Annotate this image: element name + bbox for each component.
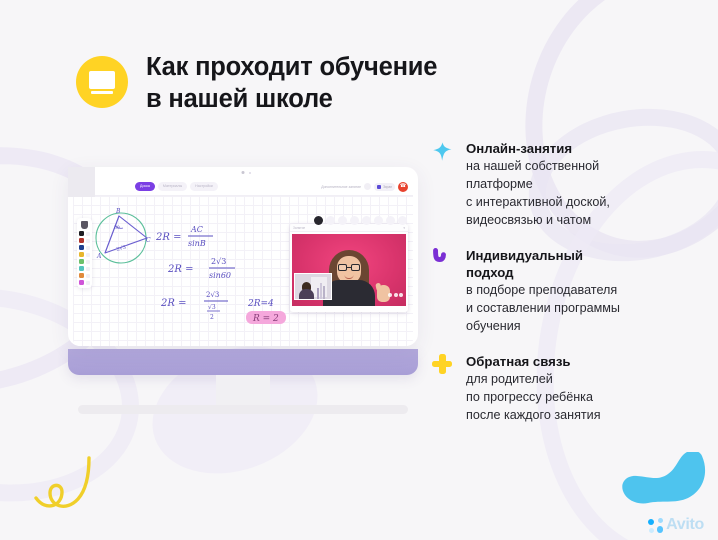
svg-text:√3: √3 [208, 304, 216, 311]
svg-text:2R=4: 2R=4 [247, 299, 274, 309]
video-controls-icon[interactable] [388, 293, 403, 297]
avito-logo-icon [648, 518, 663, 533]
feature-title: Обратная связь [466, 353, 710, 370]
svg-text:C: C [146, 237, 151, 244]
chevron-down-icon[interactable]: ▾ [403, 226, 405, 230]
tab-settings[interactable]: Настройки [190, 182, 218, 191]
trash-icon[interactable] [338, 216, 347, 225]
svg-text:AC: AC [190, 225, 203, 234]
feature-body: на нашей собственной платформе с интерак… [466, 158, 710, 230]
blue-blob [614, 452, 710, 512]
shape-icon[interactable] [362, 216, 371, 225]
whiteboard-canvas[interactable]: B A C 60 2√3 2R = AC sinB 2R = 2√3 [73, 196, 413, 346]
svg-text:sin60: sin60 [209, 271, 231, 280]
color-swatch[interactable] [79, 259, 84, 264]
svg-text:2R =: 2R = [160, 298, 186, 309]
svg-text:2√3: 2√3 [206, 291, 219, 299]
yellow-squiggle [34, 452, 114, 518]
svg-text:2√3: 2√3 [116, 245, 127, 253]
video-panel-label: Занятие [293, 226, 305, 230]
thumbs-up-thumb [375, 283, 382, 292]
share-screen-button[interactable]: Экран [374, 183, 395, 191]
monitor-screen: T Доска Материалы Настройки Дополнительн… [73, 178, 413, 346]
feature-body: в подборе преподавателя и составлении пр… [466, 282, 710, 336]
color-swatch[interactable] [79, 280, 84, 285]
color-swatch-row[interactable] [79, 259, 90, 264]
swatch-slot[interactable] [86, 239, 90, 243]
color-swatch[interactable] [79, 231, 84, 236]
swatch-slot[interactable] [86, 260, 90, 264]
feature-list: Онлайн-занятия на нашей собственной плат… [432, 140, 710, 441]
feature-title: Онлайн-занятия [466, 140, 710, 157]
tab-board[interactable]: Доска [135, 182, 155, 191]
feature-text: Обратная связь для родителей по прогресс… [466, 353, 710, 425]
swatch-slot[interactable] [86, 246, 90, 250]
teacher-video-tile [292, 234, 406, 306]
monitor-chin [68, 349, 418, 375]
eraser-icon[interactable] [326, 216, 335, 225]
svg-text:sinB: sinB [188, 239, 206, 248]
svg-text:R = 2: R = 2 [252, 314, 279, 324]
whiteboard-topbar-right: Дополнительное занятие Экран ☎ [321, 182, 408, 192]
color-swatch[interactable] [79, 252, 84, 257]
phone-hangup-icon[interactable]: ☎ [398, 182, 408, 192]
svg-text:2: 2 [210, 314, 214, 321]
feature-item-individual-approach: Индивидуальный подход в подборе преподав… [432, 247, 710, 336]
color-swatch[interactable] [79, 245, 84, 250]
feature-body: для родителей по прогрессу ребёнка после… [466, 371, 710, 425]
camera-icon [242, 171, 245, 174]
color-swatch[interactable] [79, 238, 84, 243]
color-swatch-row[interactable] [79, 231, 90, 236]
monitor-icon [89, 71, 115, 94]
whiteboard-topbar: T Доска Материалы Настройки Дополнительн… [73, 178, 413, 196]
whiteboard-toolbar[interactable] [314, 216, 407, 225]
share-label: Экран [383, 185, 392, 189]
feature-icon-wrap [432, 140, 456, 230]
pen-icon[interactable] [314, 216, 323, 225]
camera-led-icon [249, 172, 251, 174]
color-swatch-row[interactable] [79, 245, 90, 250]
monitor-base [78, 405, 408, 414]
header-badge [76, 56, 128, 108]
color-swatch-row[interactable] [79, 238, 90, 243]
swatch-slot[interactable] [86, 274, 90, 278]
crescent-icon [432, 248, 451, 268]
swatch-slot[interactable] [86, 281, 90, 285]
whiteboard-tabs: Доска Материалы Настройки [135, 182, 218, 191]
page-header: Как проходит обучение в нашей школе [76, 52, 437, 115]
glasses-icon [338, 264, 360, 271]
avito-wordmark: Avito [666, 516, 704, 534]
video-panel-header: Занятие ▾ [290, 224, 408, 232]
tab-materials[interactable]: Материалы [158, 182, 187, 191]
pen-icon[interactable] [81, 221, 88, 229]
svg-text:60: 60 [114, 225, 120, 231]
undo-icon[interactable] [386, 216, 395, 225]
feature-icon-wrap [432, 247, 456, 336]
svg-text:B: B [115, 208, 121, 215]
color-swatch-row[interactable] [79, 280, 90, 285]
color-swatch-row[interactable] [79, 252, 90, 257]
swatch-slot[interactable] [86, 253, 90, 257]
feature-item-feedback: Обратная связь для родителей по прогресс… [432, 353, 710, 425]
feature-item-online-lessons: Онлайн-занятия на нашей собственной плат… [432, 140, 710, 230]
svg-text:2√3: 2√3 [211, 257, 226, 266]
svg-text:2R =: 2R = [167, 264, 193, 275]
swatch-slot[interactable] [86, 232, 90, 236]
color-swatch[interactable] [79, 266, 84, 271]
feature-text: Индивидуальный подход в подборе преподав… [466, 247, 710, 336]
svg-text:A: A [96, 253, 102, 260]
video-call-panel[interactable]: Занятие ▾ [290, 224, 408, 312]
share-icon [377, 185, 381, 189]
move-icon[interactable] [374, 216, 383, 225]
whiteboard-tool-palette[interactable] [77, 218, 92, 288]
redo-icon[interactable] [398, 216, 407, 225]
slide-root: Как проходит обучение в нашей школе T До… [0, 0, 718, 540]
star-icon [432, 141, 453, 162]
page-title: Как проходит обучение в нашей школе [146, 52, 437, 115]
feature-text: Онлайн-занятия на нашей собственной плат… [466, 140, 710, 230]
color-swatch[interactable] [79, 273, 84, 278]
color-swatch-row[interactable] [79, 266, 90, 271]
info-icon[interactable] [364, 183, 371, 190]
swatch-slot[interactable] [86, 267, 90, 271]
student-video-tile[interactable] [294, 273, 332, 300]
monitor-device: T Доска Материалы Настройки Дополнительн… [68, 167, 418, 414]
monitor-body: T Доска Материалы Настройки Дополнительн… [68, 167, 418, 346]
feature-title: Индивидуальный подход [466, 247, 710, 281]
avito-watermark: Avito [648, 516, 704, 534]
session-label: Дополнительное занятие [321, 185, 361, 189]
color-swatch-row[interactable] [79, 273, 90, 278]
monitor-stand [216, 375, 270, 405]
svg-text:2R =: 2R = [155, 232, 181, 243]
feature-icon-wrap [432, 353, 456, 425]
line-icon[interactable] [350, 216, 359, 225]
